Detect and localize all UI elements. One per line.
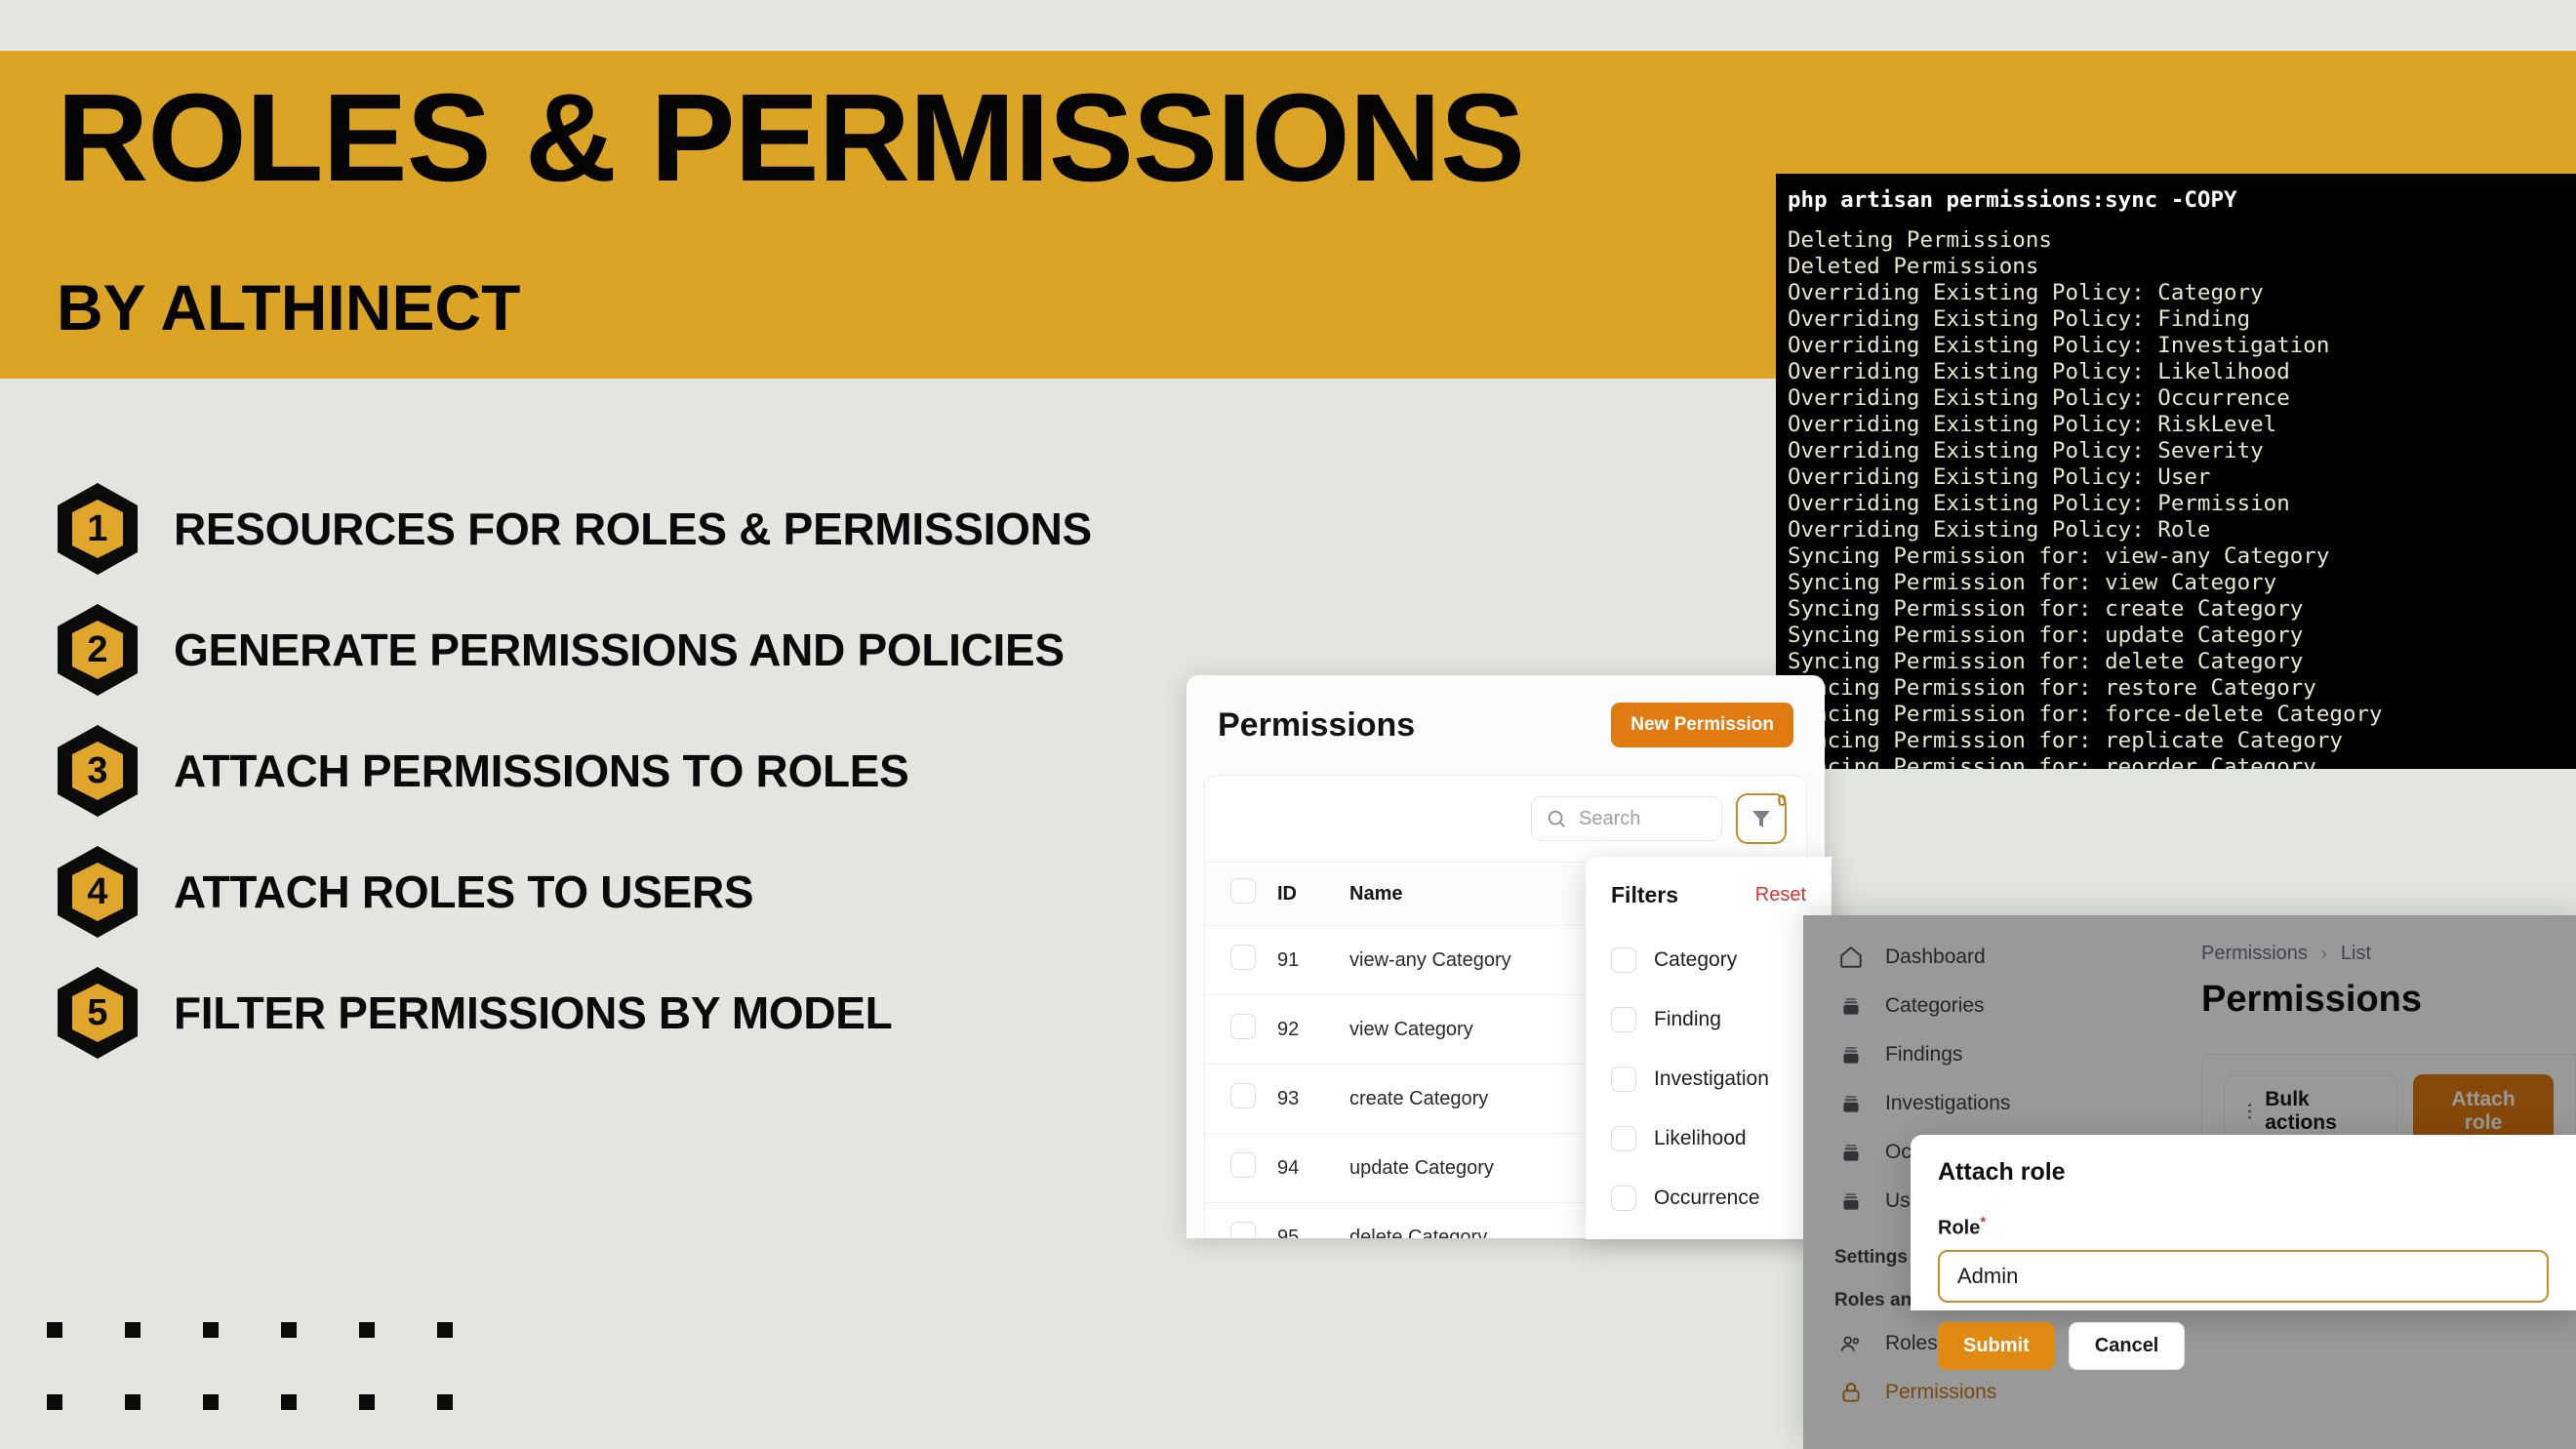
permissions-card-title: Permissions — [1218, 706, 1415, 745]
dot — [281, 1322, 297, 1338]
filter-checkbox[interactable] — [1611, 1007, 1636, 1032]
app-page-heading: Permissions — [2201, 979, 2576, 1021]
filter-option-category[interactable]: Category — [1611, 930, 1831, 989]
sidebar-item-label: Dashboard — [1885, 946, 1986, 969]
sidebar-item-label: Findings — [1885, 1043, 1962, 1067]
cell-id: 95 — [1277, 1203, 1349, 1239]
filter-option-label: Finding — [1654, 1008, 1721, 1031]
step-label: ATTACH ROLES TO USERS — [174, 865, 753, 918]
sidebar-item-findings[interactable]: Findings — [1803, 1030, 2166, 1079]
filter-option-investigation[interactable]: Investigation — [1611, 1049, 1831, 1108]
dot — [359, 1394, 375, 1410]
filter-checkbox[interactable] — [1611, 1067, 1636, 1092]
hexagon-badge: 3 — [57, 724, 139, 818]
submit-button[interactable]: Submit — [1938, 1322, 2055, 1370]
step-item: 1 RESOURCES FOR ROLES & PERMISSIONS — [57, 468, 1325, 589]
cell-id: 93 — [1277, 1065, 1349, 1134]
chevron-right-icon: › — [2321, 944, 2327, 964]
sidebar-item-label: Permissions — [1885, 1381, 1996, 1404]
new-permission-button[interactable]: New Permission — [1611, 703, 1793, 747]
terminal-line: Syncing Permission for: force-delete Cat… — [1782, 702, 2576, 728]
attach-role-modal: Attach role Role* Admin Submit Cancel — [1911, 1135, 2576, 1310]
sidebar-item-label: Investigations — [1885, 1092, 2010, 1115]
dot — [359, 1322, 375, 1338]
dot — [437, 1394, 453, 1410]
step-number: 3 — [57, 724, 139, 818]
cell-id: 94 — [1277, 1134, 1349, 1203]
stack-icon — [1838, 1042, 1864, 1067]
sidebar-item-label: Roles — [1885, 1332, 1938, 1355]
step-label: FILTER PERMISSIONS BY MODEL — [174, 986, 892, 1039]
terminal-line: Overriding Existing Policy: Likelihood — [1782, 359, 2576, 385]
terminal-command: php artisan permissions:sync -COPY — [1782, 187, 2576, 227]
select-all-cell[interactable] — [1205, 863, 1277, 926]
cancel-button[interactable]: Cancel — [2069, 1322, 2186, 1370]
column-header-id[interactable]: ID — [1277, 863, 1349, 926]
dot — [47, 1322, 62, 1338]
sidebar-item-categories[interactable]: Categories — [1803, 982, 2166, 1030]
filter-count-badge: 0 — [1778, 791, 1787, 811]
sidebar-item-permissions[interactable]: Permissions — [1803, 1368, 2166, 1417]
home-icon — [1838, 945, 1864, 970]
terminal-line: Overriding Existing Policy: Finding — [1782, 306, 2576, 333]
step-item: 5 FILTER PERMISSIONS BY MODEL — [57, 952, 1325, 1073]
breadcrumb-item-permissions[interactable]: Permissions — [2201, 943, 2308, 965]
filters-header: Filters Reset — [1611, 882, 1831, 908]
filter-option-label: Investigation — [1654, 1067, 1769, 1091]
dot — [125, 1394, 141, 1410]
steps-list: 1 RESOURCES FOR ROLES & PERMISSIONS 2 GE… — [57, 468, 1325, 1073]
filter-option-label: Likelihood — [1654, 1127, 1747, 1150]
hexagon-badge: 1 — [57, 482, 139, 576]
terminal-line: Overriding Existing Policy: Permission — [1782, 491, 2576, 517]
hexagon-badge: 5 — [57, 966, 139, 1060]
step-number: 1 — [57, 482, 139, 576]
terminal-line: Overriding Existing Policy: Occurrence — [1782, 385, 2576, 412]
dot — [203, 1322, 219, 1338]
filter-checkbox[interactable] — [1611, 1186, 1636, 1211]
terminal-line: Syncing Permission for: create Category — [1782, 596, 2576, 623]
modal-field-label: Role* — [1938, 1214, 2549, 1240]
search-placeholder: Search — [1579, 808, 1640, 830]
terminal-line: Overriding Existing Policy: Role — [1782, 517, 2576, 543]
users-icon — [1838, 1331, 1864, 1356]
breadcrumb: Permissions › List — [2201, 943, 2576, 965]
dot — [437, 1322, 453, 1338]
decorative-dots — [47, 1322, 453, 1449]
modal-field-label-text: Role — [1938, 1218, 1980, 1239]
terminal-line: Syncing Permission for: restore Category — [1782, 675, 2576, 702]
terminal-line: Syncing Permission for: delete Category — [1782, 649, 2576, 675]
terminal-line: Syncing Permission for: view Category — [1782, 570, 2576, 596]
hexagon-badge: 2 — [57, 603, 139, 697]
terminal-window: php artisan permissions:sync -COPY Delet… — [1776, 174, 2576, 769]
filter-option-label: Category — [1654, 948, 1737, 972]
terminal-line: Overriding Existing Policy: User — [1782, 464, 2576, 491]
filters-title: Filters — [1611, 882, 1678, 908]
cell-id: 92 — [1277, 995, 1349, 1065]
filters-reset-link[interactable]: Reset — [1755, 884, 1806, 906]
filter-option-likelihood[interactable]: Likelihood — [1611, 1108, 1831, 1168]
filter-option-finding[interactable]: Finding — [1611, 989, 1831, 1049]
step-number: 2 — [57, 603, 139, 697]
search-input[interactable]: Search — [1531, 796, 1722, 841]
role-select-value: Admin — [1957, 1264, 2018, 1289]
table-toolbar: Search 0 — [1205, 776, 1806, 862]
lock-icon — [1838, 1380, 1864, 1405]
step-number: 4 — [57, 845, 139, 939]
terminal-line: Deleted Permissions — [1782, 254, 2576, 280]
filter-button[interactable]: 0 — [1736, 793, 1787, 844]
dot — [125, 1322, 141, 1338]
step-item: 3 ATTACH PERMISSIONS TO ROLES — [57, 710, 1325, 831]
modal-title: Attach role — [1938, 1158, 2549, 1187]
dot — [47, 1394, 62, 1410]
search-icon — [1546, 808, 1567, 829]
sidebar-item-dashboard[interactable]: Dashboard — [1803, 933, 2166, 982]
permissions-card-header: Permissions New Permission — [1187, 675, 1825, 769]
stack-icon — [1838, 1140, 1864, 1165]
slide-root: ROLES & PERMISSIONS BY ALTHINECT 1 RESOU… — [0, 0, 2576, 1449]
row-checkbox[interactable] — [1230, 945, 1256, 970]
funnel-icon — [1750, 807, 1773, 830]
hexagon-badge: 4 — [57, 845, 139, 939]
filter-option-occurrence[interactable]: Occurrence — [1611, 1168, 1831, 1228]
terminal-line: Syncing Permission for: replicate Catego… — [1782, 728, 2576, 754]
terminal-line: Overriding Existing Policy: Investigatio… — [1782, 333, 2576, 359]
filter-checkbox[interactable] — [1611, 1126, 1636, 1151]
select-all-checkbox[interactable] — [1230, 878, 1256, 904]
modal-buttons: Submit Cancel — [1938, 1322, 2549, 1370]
step-label: GENERATE PERMISSIONS AND POLICIES — [174, 624, 1065, 676]
dot — [281, 1394, 297, 1410]
step-item: 2 GENERATE PERMISSIONS AND POLICIES — [57, 589, 1325, 710]
row-checkbox[interactable] — [1230, 1152, 1256, 1178]
role-select-input[interactable]: Admin — [1938, 1250, 2549, 1303]
stack-icon — [1838, 993, 1864, 1019]
step-item: 4 ATTACH ROLES TO USERS — [57, 831, 1325, 952]
filter-checkbox[interactable] — [1611, 947, 1636, 973]
terminal-line: Syncing Permission for: update Category — [1782, 623, 2576, 649]
terminal-line: Overriding Existing Policy: Severity — [1782, 438, 2576, 464]
terminal-line: Overriding Existing Policy: Category — [1782, 280, 2576, 306]
page-title: ROLES & PERMISSIONS — [57, 76, 1524, 201]
page-subtitle: BY ALTHINECT — [57, 275, 520, 340]
terminal-line: Overriding Existing Policy: RiskLevel — [1782, 412, 2576, 438]
row-checkbox[interactable] — [1230, 1222, 1256, 1238]
required-marker: * — [1980, 1214, 1986, 1230]
filters-popover: Filters Reset Category Finding Investiga… — [1586, 857, 1831, 1239]
row-checkbox[interactable] — [1230, 1014, 1256, 1039]
sidebar-item-investigations[interactable]: Investigations — [1803, 1079, 2166, 1128]
dot — [203, 1394, 219, 1410]
step-label: RESOURCES FOR ROLES & PERMISSIONS — [174, 503, 1092, 555]
row-checkbox[interactable] — [1230, 1083, 1256, 1108]
filter-option-label: Occurrence — [1654, 1187, 1760, 1210]
stack-icon — [1838, 1188, 1864, 1214]
bulk-actions-label: Bulk actions — [2265, 1088, 2375, 1135]
stack-icon — [1838, 1091, 1864, 1116]
step-number: 5 — [57, 966, 139, 1060]
terminal-line: Deleting Permissions — [1782, 227, 2576, 254]
breadcrumb-item-list[interactable]: List — [2341, 943, 2371, 965]
terminal-line: Syncing Permission for: reorder Category — [1782, 754, 2576, 769]
cell-id: 91 — [1277, 926, 1349, 995]
vertical-dots-icon — [2246, 1101, 2253, 1122]
step-label: ATTACH PERMISSIONS TO ROLES — [174, 745, 909, 797]
sidebar-item-label: Categories — [1885, 994, 1985, 1018]
terminal-line: Syncing Permission for: view-any Categor… — [1782, 543, 2576, 570]
